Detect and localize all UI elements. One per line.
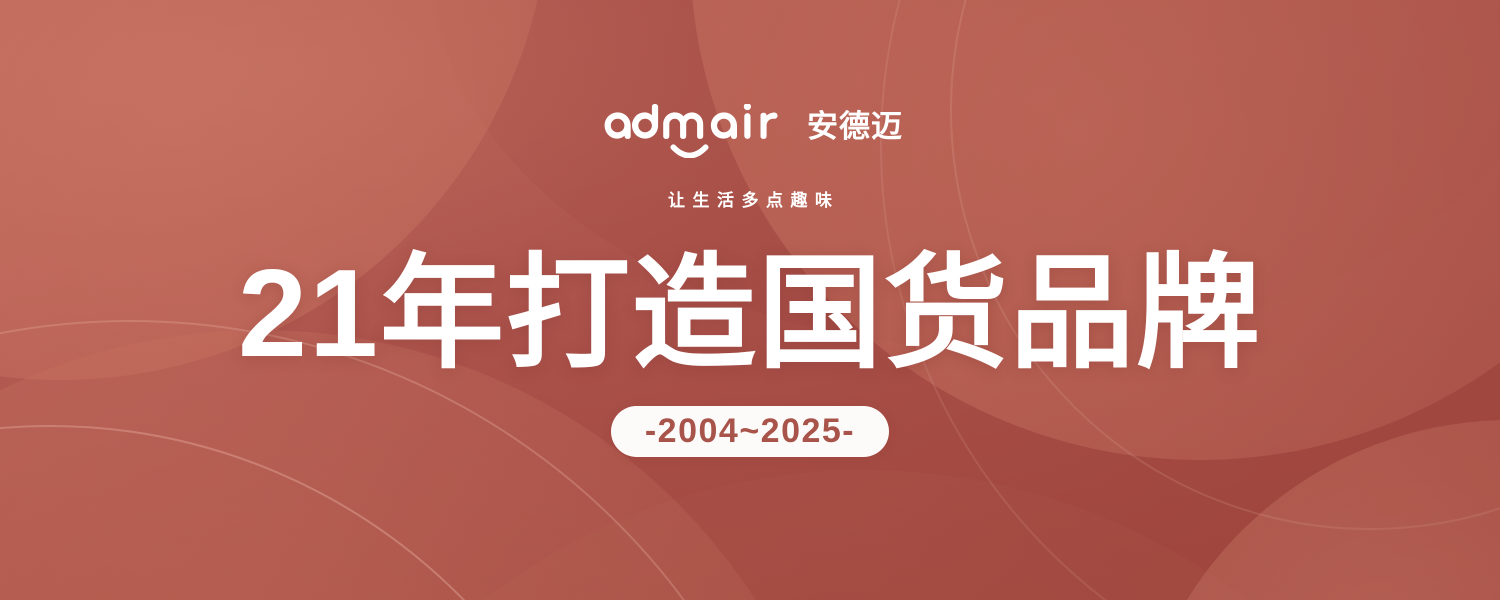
- brand-banner: 安德迈 让生活多点趣味 21年打造国货品牌 -2004~2025-: [0, 0, 1500, 600]
- smile-arc-icon: [670, 144, 708, 158]
- banner-content: 安德迈 让生活多点趣味 21年打造国货品牌 -2004~2025-: [0, 0, 1500, 600]
- admair-wordmark-icon: [597, 104, 790, 158]
- year-range-badge: -2004~2025-: [611, 406, 889, 457]
- brand-tagline: 让生活多点趣味: [661, 186, 840, 211]
- headline-title: 21年打造国货品牌: [238, 251, 1262, 377]
- logo-lockup: 安德迈: [597, 104, 903, 158]
- brand-name-cn: 安德迈: [807, 109, 903, 145]
